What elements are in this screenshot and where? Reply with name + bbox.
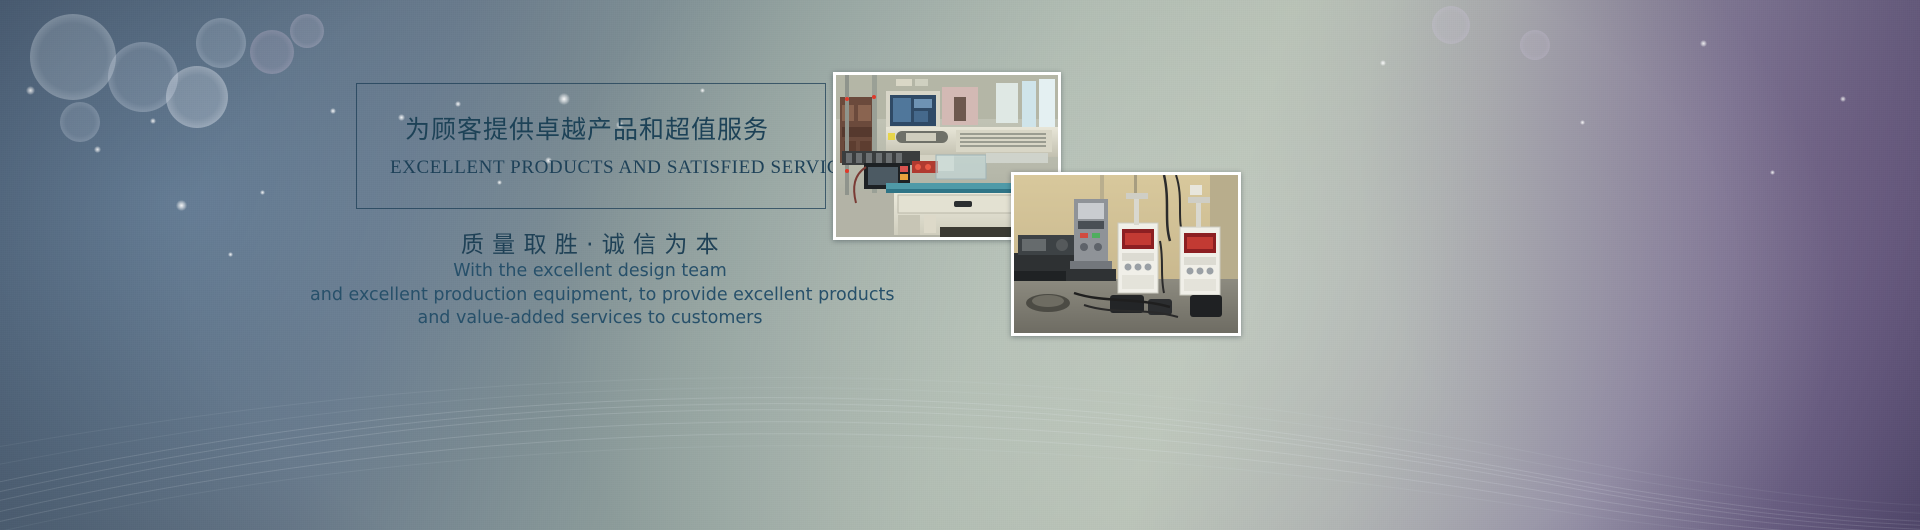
description-line-3: and value-added services to customers <box>310 307 870 331</box>
bokeh-circle <box>1520 30 1550 60</box>
photo-lab-equipment <box>1011 172 1241 336</box>
light-dot <box>1380 60 1386 66</box>
description-paragraph: With the excellent design team and excel… <box>310 260 870 331</box>
slogan-chinese: 质 量 取 胜 · 诚 信 为 本 <box>356 225 824 259</box>
description-line-1: With the excellent design team <box>310 260 870 284</box>
light-dot <box>1840 96 1846 102</box>
headline-chinese: 为顾客提供卓越产品和超值服务 <box>405 110 825 146</box>
headline-frame <box>356 83 826 209</box>
light-dot <box>1580 120 1585 125</box>
promo-banner: 为顾客提供卓越产品和超值服务 EXCELLENT PRODUCTS AND SA… <box>0 0 1920 530</box>
description-line-2: and excellent production equipment, to p… <box>310 284 870 308</box>
light-dot <box>1770 170 1775 175</box>
photo-lab-equipment-image <box>1014 175 1238 333</box>
light-dot <box>1700 40 1707 47</box>
bokeh-circle <box>1432 6 1470 44</box>
subheadline-english: EXCELLENT PRODUCTS AND SATISFIED SERVICE <box>390 157 790 179</box>
